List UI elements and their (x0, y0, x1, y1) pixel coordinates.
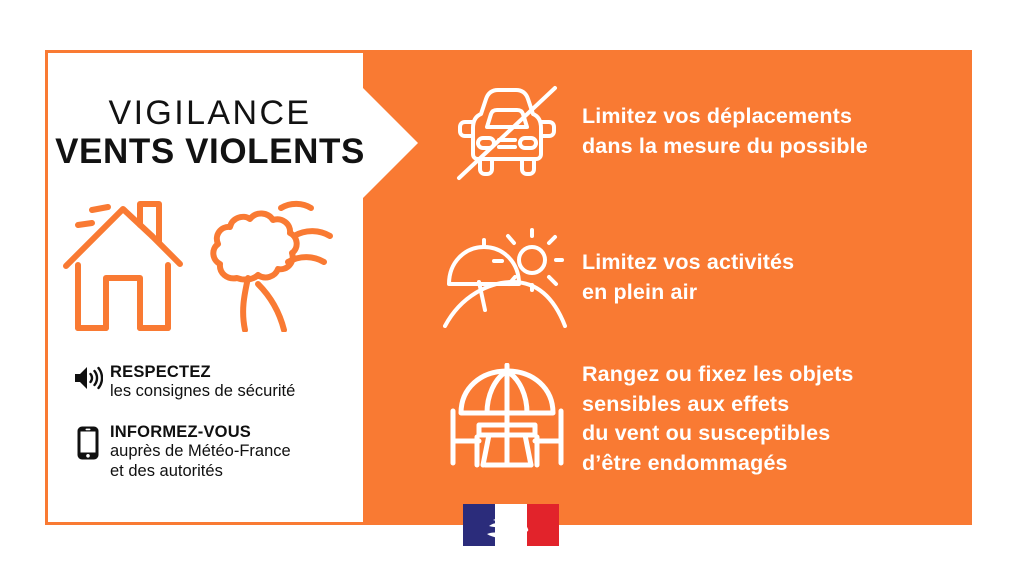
patio-table-parasol-icon-slot (432, 363, 582, 475)
advice-0-line-1: dans la mesure du possible (582, 132, 868, 162)
flag-white-band (495, 504, 527, 546)
instruction-informez-detail-1: auprès de Météo-France (110, 442, 291, 461)
advice-text-1: Limitez vos activités en plein air (582, 248, 794, 307)
advice-1-line-1: en plein air (582, 278, 794, 308)
advice-text-2: Rangez ou fixez les objets sensibles aux… (582, 360, 854, 479)
advice-2-line-2: du vent ou susceptibles (582, 419, 854, 449)
instruction-informez-text: INFORMEZ-VOUS auprès de Météo-France et … (110, 423, 291, 481)
advice-2-line-1: sensibles aux effets (582, 390, 854, 420)
no-car-icon-slot (432, 82, 582, 182)
instruction-informez-heading: INFORMEZ-VOUS (110, 423, 291, 442)
advice-0-line-0: Limitez vos déplacements (582, 102, 868, 132)
advice-row-limitez-deplacements: Limitez vos déplacements dans la mesure … (432, 82, 868, 182)
smartphone-icon (76, 425, 100, 461)
title-vents-violents: VENTS VIOLENTS (45, 130, 375, 174)
french-republic-marianne-logo (463, 504, 559, 546)
marianne-profile-icon (487, 504, 535, 546)
house-and-tree-icon (62, 192, 352, 332)
title-vigilance: VIGILANCE (45, 96, 375, 130)
page-title: VIGILANCE VENTS VIOLENTS (45, 96, 375, 174)
no-car-icon (451, 82, 563, 182)
advice-row-rangez-objets: Rangez ou fixez les objets sensibles aux… (432, 360, 854, 479)
beach-parasol-sun-icon (443, 228, 571, 328)
patio-table-parasol-icon (445, 363, 569, 475)
speaker-icon (73, 365, 103, 391)
speaker-icon-slot (66, 363, 110, 391)
advice-text-0: Limitez vos déplacements dans la mesure … (582, 102, 868, 161)
instruction-respectez-text: RESPECTEZ les consignes de sécurité (110, 363, 295, 402)
vigilance-poster: VIGILANCE VENTS VIOLENTS (0, 0, 1024, 576)
beach-parasol-sun-icon-slot (432, 228, 582, 328)
advice-1-line-0: Limitez vos activités (582, 248, 794, 278)
advice-2-line-3: d’être endommagés (582, 449, 854, 479)
advice-row-limitez-activites: Limitez vos activités en plein air (432, 228, 794, 328)
advice-2-line-0: Rangez ou fixez les objets (582, 360, 854, 390)
instruction-informez-vous: INFORMEZ-VOUS auprès de Météo-France et … (66, 423, 291, 481)
instruction-respectez-detail: les consignes de sécurité (110, 382, 295, 401)
instruction-informez-detail-2: et des autorités (110, 462, 291, 481)
smartphone-icon-slot (66, 423, 110, 461)
instruction-respectez-heading: RESPECTEZ (110, 363, 295, 382)
instruction-respectez: RESPECTEZ les consignes de sécurité (66, 363, 295, 402)
